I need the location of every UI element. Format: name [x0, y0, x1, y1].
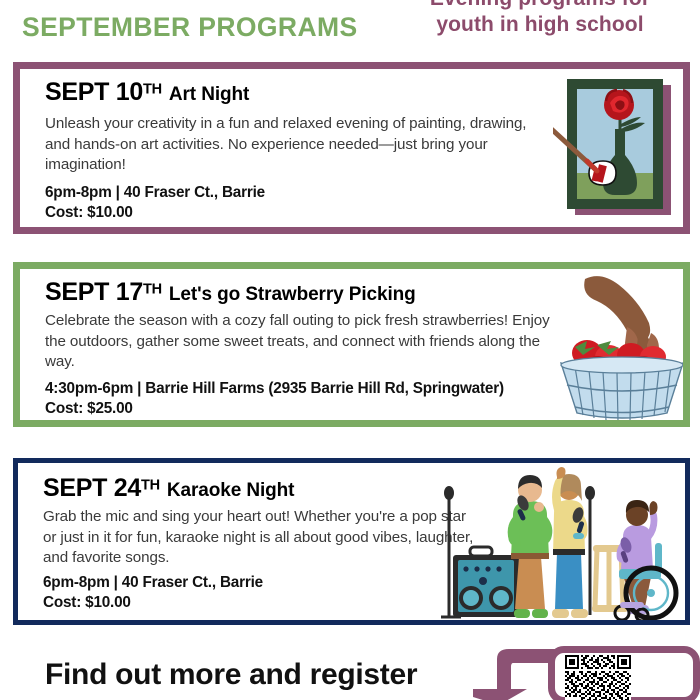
program-card-heading: SEPT 24THKaraoke Night — [43, 474, 294, 503]
program-details: 6pm-8pm | 40 Fraser Ct., Barrie Cost: $1… — [43, 573, 263, 613]
program-details: 4:30pm-6pm | Barrie Hill Farms (2935 Bar… — [45, 379, 504, 419]
program-card-heading: SEPT 17THLet's go Strawberry Picking — [45, 278, 416, 307]
program-poster: SEPTEMBER PROGRAMS Evening programs for … — [0, 0, 700, 700]
program-time-location: 6pm-8pm | 40 Fraser Ct., Barrie — [45, 183, 265, 203]
program-date-suffix: TH — [143, 282, 162, 298]
program-description: Celebrate the season with a cozy fall ou… — [45, 311, 550, 373]
program-details: 6pm-8pm | 40 Fraser Ct., Barrie Cost: $1… — [45, 183, 265, 223]
program-card-heading: SEPT 10THArt Night — [45, 78, 249, 107]
program-name: Karaoke Night — [167, 480, 295, 501]
program-date: SEPT 17 — [45, 278, 143, 306]
program-card-body: SEPT 10THArt Night Unleash your creativi… — [20, 69, 683, 227]
header-subtitle-line2: youth in high school — [404, 12, 676, 38]
qr-code-icon[interactable] — [565, 655, 631, 700]
program-card-body: SEPT 24THKaraoke Night Grab the mic and … — [18, 463, 685, 620]
program-card-karaoke-night[interactable]: SEPT 24THKaraoke Night Grab the mic and … — [13, 458, 690, 625]
page-title: SEPTEMBER PROGRAMS — [22, 12, 358, 43]
hand-picking-strawberries-from-basket-icon — [557, 275, 683, 420]
program-date: SEPT 24 — [43, 474, 141, 502]
program-date: SEPT 10 — [45, 78, 143, 106]
footer-cta-text: Find out more and register — [45, 658, 417, 692]
program-card-strawberry-picking[interactable]: SEPT 17THLet's go Strawberry Picking Cel… — [13, 262, 690, 427]
program-cost: Cost: $10.00 — [43, 593, 263, 613]
program-time-location: 6pm-8pm | 40 Fraser Ct., Barrie — [43, 573, 263, 593]
poster-header: SEPTEMBER PROGRAMS Evening programs for … — [0, 0, 700, 58]
program-date-suffix: TH — [141, 478, 160, 494]
header-subtitle-line1: Evening programs for — [404, 0, 676, 12]
program-name: Let's go Strawberry Picking — [169, 284, 416, 305]
program-description: Grab the mic and sing your heart out! Wh… — [43, 507, 483, 569]
three-people-singing-karaoke-with-speaker-icon — [437, 463, 685, 620]
program-cost: Cost: $10.00 — [45, 203, 265, 223]
program-name: Art Night — [169, 84, 249, 105]
program-description: Unleash your creativity in a fun and rel… — [45, 114, 550, 176]
program-card-body: SEPT 17THLet's go Strawberry Picking Cel… — [20, 269, 683, 420]
program-date-suffix: TH — [143, 82, 162, 98]
framed-rose-painting-with-paintbrush-and-palette-icon — [553, 77, 683, 227]
program-card-art-night[interactable]: SEPT 10THArt Night Unleash your creativi… — [13, 62, 690, 234]
program-time-location: 4:30pm-6pm | Barrie Hill Farms (2935 Bar… — [45, 379, 504, 399]
program-cost: Cost: $25.00 — [45, 399, 504, 419]
header-subtitle: Evening programs for youth in high schoo… — [404, 0, 676, 38]
